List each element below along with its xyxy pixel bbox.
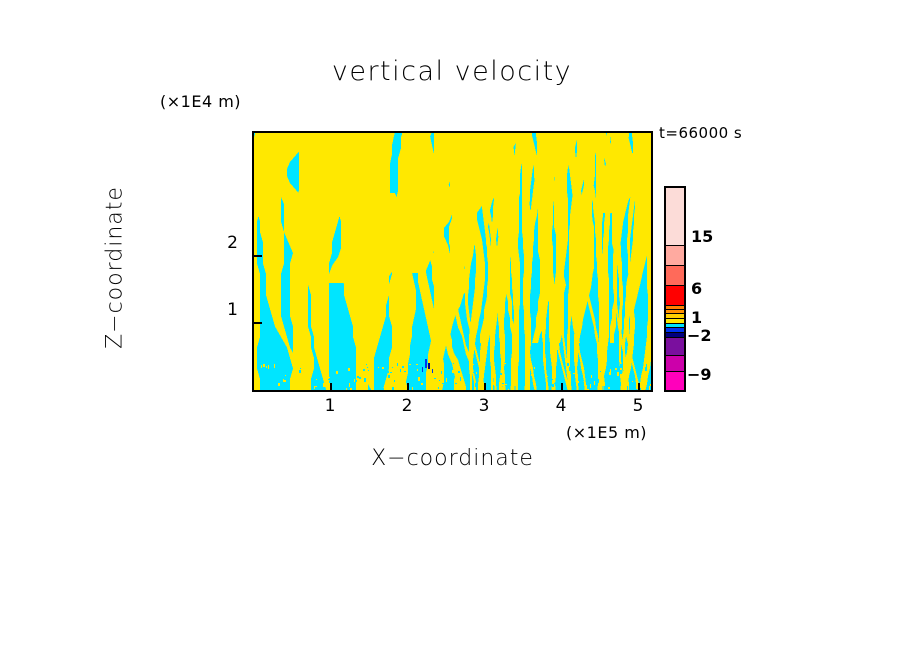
colorbar-separator-5 xyxy=(666,327,684,328)
colorbar-separator-13 xyxy=(666,245,684,246)
colorbar xyxy=(664,186,686,392)
y-axis-title: Z−coordinate xyxy=(103,148,128,388)
colorbar-segment-2 xyxy=(666,338,684,356)
x-tick-label-1: 1 xyxy=(310,396,350,416)
x-tick-major-3 xyxy=(484,383,486,392)
colorbar-separator-12 xyxy=(666,265,684,266)
colorbar-separator-3 xyxy=(666,337,684,338)
colorbar-separator-2 xyxy=(666,355,684,356)
colorbar-segment-10 xyxy=(666,286,684,306)
colorbar-segment-0 xyxy=(666,372,684,390)
colorbar-separator-10 xyxy=(666,305,684,306)
y-tick-label-1: 1 xyxy=(208,300,238,320)
colorbar-separator-8 xyxy=(666,313,684,314)
colorbar-segment-12 xyxy=(666,246,684,266)
x-axis-title: X−coordinate xyxy=(252,446,653,471)
plot-frame xyxy=(252,131,653,392)
colorbar-label-minus9: −9 xyxy=(687,365,712,384)
x-axis-unit-label: (×1E5 m) xyxy=(566,423,647,442)
colorbar-segment-13 xyxy=(666,188,684,246)
colorbar-separator-4 xyxy=(666,332,684,333)
page-title: vertical velocity xyxy=(0,56,904,87)
colorbar-frame xyxy=(664,186,686,392)
y-tick-label-2: 2 xyxy=(208,233,238,253)
colorbar-segment-11 xyxy=(666,266,684,286)
x-tick-major-1 xyxy=(330,383,332,392)
x-tick-label-2: 2 xyxy=(387,396,427,416)
x-tick-major-4 xyxy=(561,383,563,392)
heatmap-field xyxy=(254,133,653,392)
y-tick-major-1 xyxy=(252,322,262,324)
x-tick-major-2 xyxy=(407,383,409,392)
y-tick-major-2 xyxy=(252,255,262,257)
figure-canvas: vertical velocity (×1E4 m) t=66000 s 1 2… xyxy=(0,0,904,654)
colorbar-separator-1 xyxy=(666,371,684,372)
x-tick-major-5 xyxy=(638,383,640,392)
timestamp-annotation: t=66000 s xyxy=(659,124,742,142)
colorbar-separator-6 xyxy=(666,323,684,324)
colorbar-label-6: 6 xyxy=(691,279,702,298)
plot-area xyxy=(252,131,653,392)
x-tick-label-4: 4 xyxy=(541,396,581,416)
x-tick-label-5: 5 xyxy=(618,396,658,416)
colorbar-label-minus2: −2 xyxy=(687,326,712,345)
colorbar-label-15: 15 xyxy=(691,227,713,246)
colorbar-separator-11 xyxy=(666,285,684,286)
x-tick-label-3: 3 xyxy=(464,396,504,416)
colorbar-separator-7 xyxy=(666,318,684,319)
colorbar-separator-9 xyxy=(666,309,684,310)
y-axis-unit-label: (×1E4 m) xyxy=(160,92,241,111)
colorbar-segment-1 xyxy=(666,356,684,372)
colorbar-label-1: 1 xyxy=(691,308,702,327)
